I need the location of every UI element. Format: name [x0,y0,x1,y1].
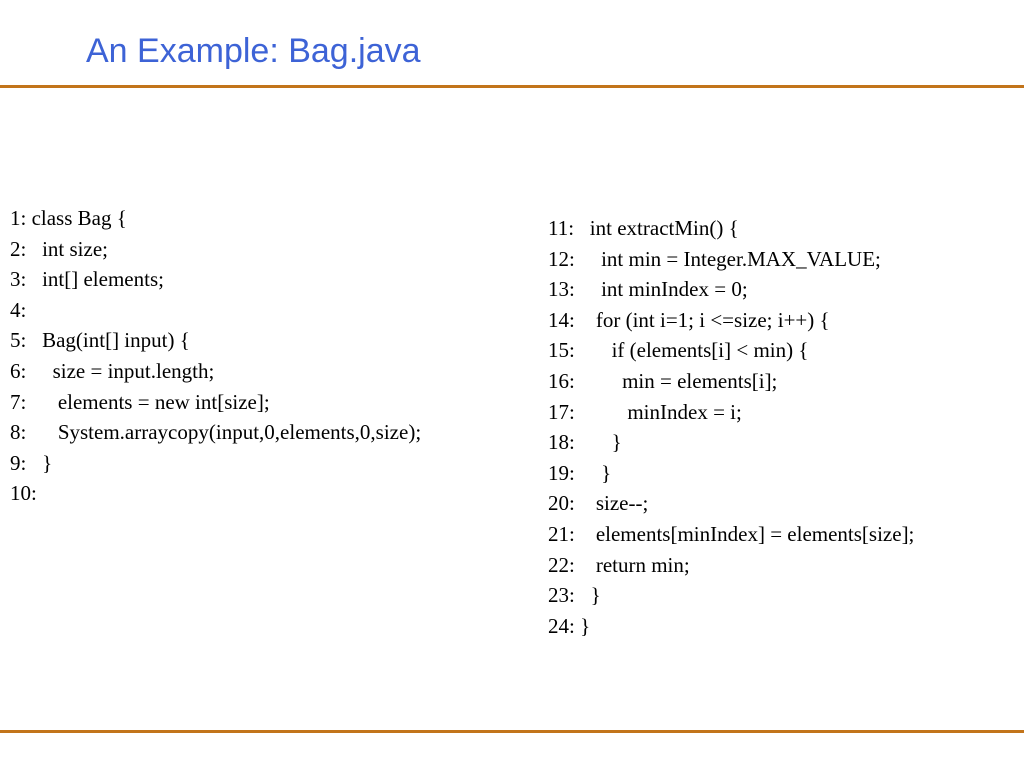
code-line: 2: int size; [10,234,421,265]
code-line: 20: size--; [548,488,914,519]
footer-divider-rule [0,730,1024,733]
code-line: 15: if (elements[i] < min) { [548,335,914,366]
code-line: 16: min = elements[i]; [548,366,914,397]
code-line: 5: Bag(int[] input) { [10,325,421,356]
page-title: An Example: Bag.java [86,30,421,72]
code-line: 8: System.arraycopy(input,0,elements,0,s… [10,417,421,448]
code-line: 12: int min = Integer.MAX_VALUE; [548,244,914,275]
code-line: 18: } [548,427,914,458]
code-line: 21: elements[minIndex] = elements[size]; [548,519,914,550]
code-line: 10: [10,478,421,509]
code-block-left: 1: class Bag {2: int size;3: int[] eleme… [10,203,421,509]
code-block-right: 11: int extractMin() {12: int min = Inte… [548,213,914,641]
code-line: 4: [10,295,421,326]
slide: An Example: Bag.java 1: class Bag {2: in… [0,0,1024,768]
code-line: 23: } [548,580,914,611]
code-line: 14: for (int i=1; i <=size; i++) { [548,305,914,336]
code-line: 9: } [10,448,421,479]
code-line: 6: size = input.length; [10,356,421,387]
code-line: 22: return min; [548,550,914,581]
code-line: 11: int extractMin() { [548,213,914,244]
code-line: 1: class Bag { [10,203,421,234]
code-line: 24: } [548,611,914,642]
code-line: 19: } [548,458,914,489]
code-line: 17: minIndex = i; [548,397,914,428]
title-divider-rule [0,85,1024,88]
code-line: 3: int[] elements; [10,264,421,295]
code-line: 7: elements = new int[size]; [10,387,421,418]
code-line: 13: int minIndex = 0; [548,274,914,305]
